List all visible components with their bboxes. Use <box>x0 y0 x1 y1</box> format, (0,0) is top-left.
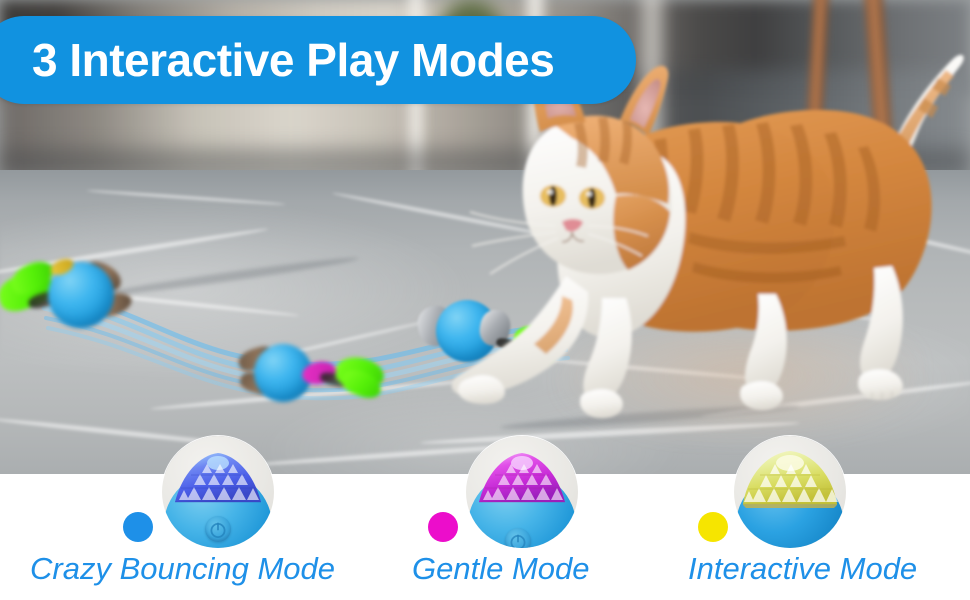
banner-title: 3 Interactive Play Modes <box>32 37 554 83</box>
blue-led-dome <box>174 452 262 510</box>
mode-indicator-dot-gentle <box>428 512 458 542</box>
mode-label-gentle: Gentle Mode <box>412 553 590 584</box>
mode-indicator-dot-crazy-bouncing <box>123 512 153 542</box>
mode-thumbnail-gentle[interactable] <box>466 436 578 548</box>
mode-indicator-dot-interactive <box>698 512 728 542</box>
mode-thumbnail-crazy-bouncing[interactable] <box>162 436 274 548</box>
mode-thumbnail-interactive[interactable] <box>734 436 846 548</box>
power-button-icon <box>205 516 231 542</box>
power-button-icon <box>505 528 531 548</box>
yellow-led-dome <box>742 450 838 512</box>
mode-label-crazy-bouncing: Crazy Bouncing Mode <box>30 553 335 584</box>
magenta-led-dome <box>478 452 566 510</box>
header-banner: 3 Interactive Play Modes <box>0 16 636 104</box>
product-feature-image: 3 Interactive Play Modes <box>0 0 970 600</box>
mode-label-interactive: Interactive Mode <box>688 553 917 584</box>
